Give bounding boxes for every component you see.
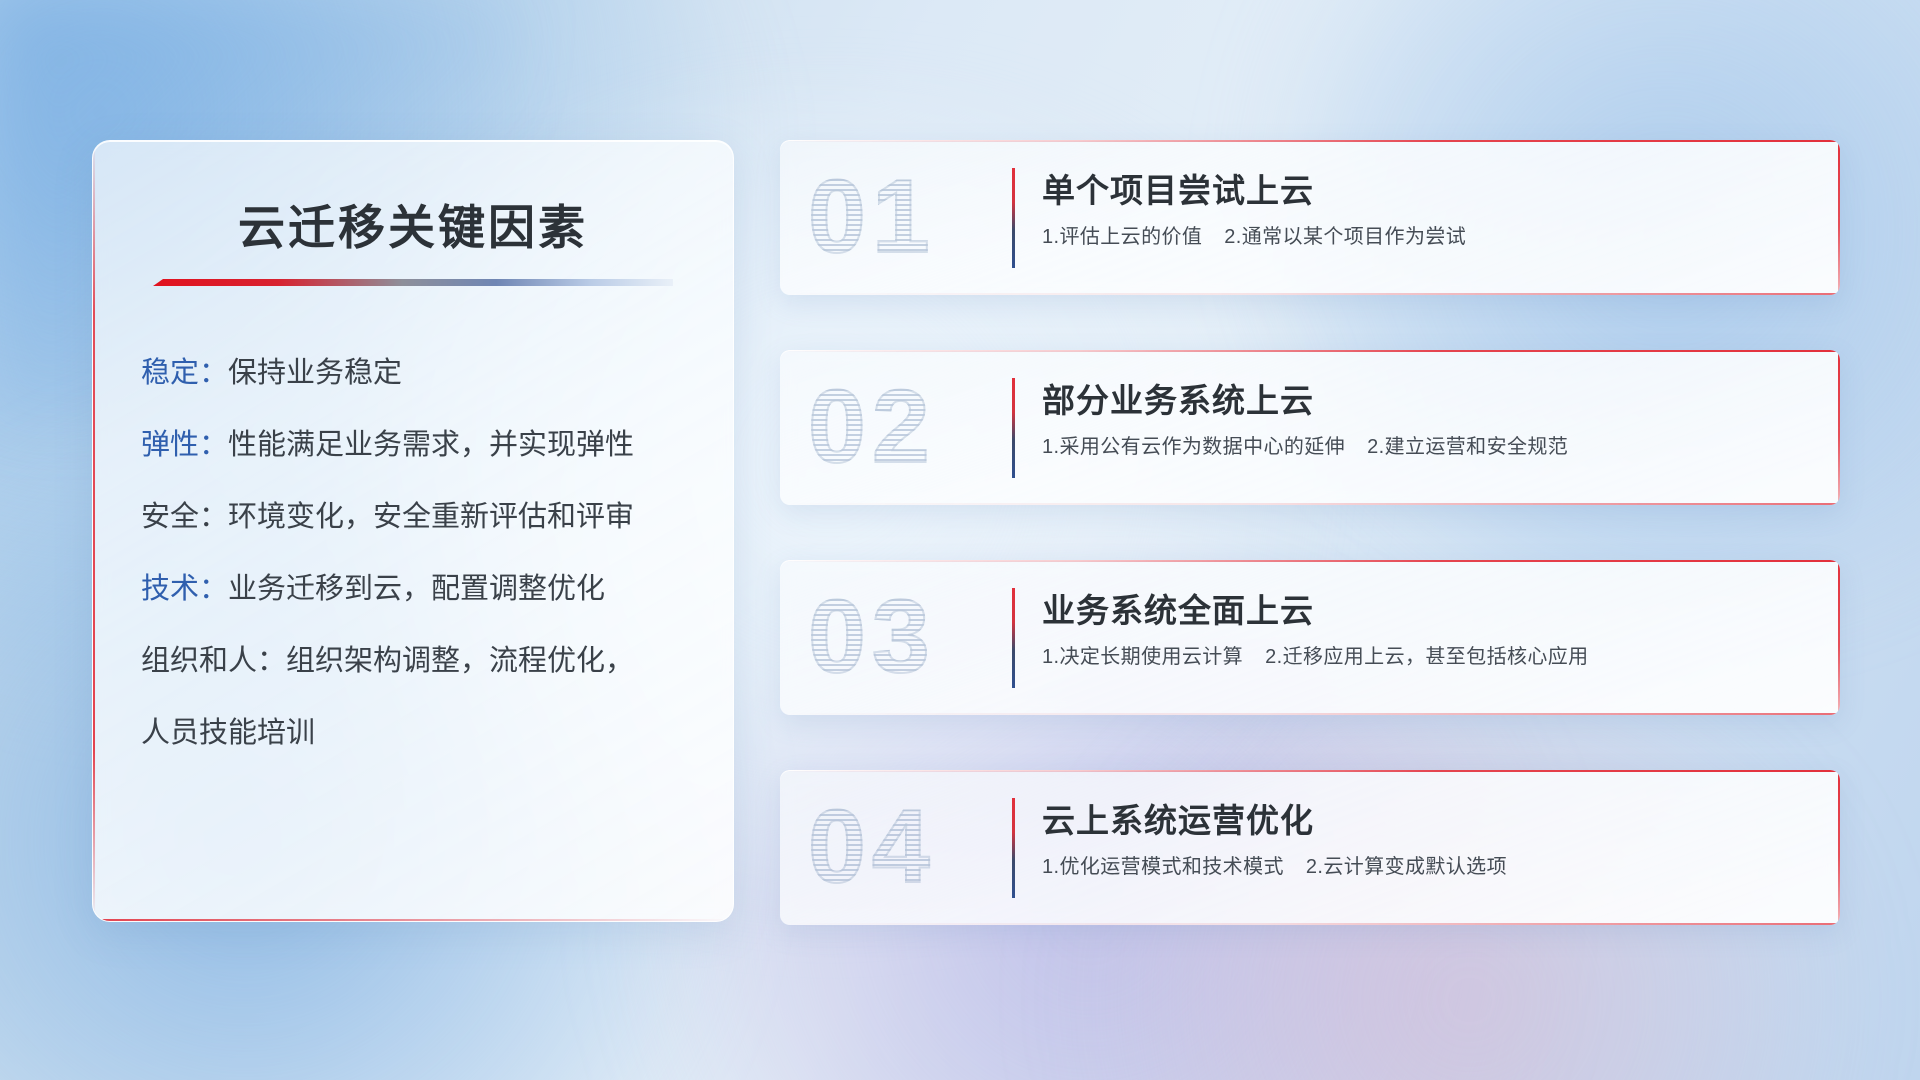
stage-point-1: 1.优化运营模式和技术模式 [1042,856,1284,878]
list-item: 人员技能培训 [141,719,697,748]
stage-description: 1.评估上云的价值2.通常以某个项目作为尝试 [1042,220,1466,249]
stage-divider-bar [1012,168,1015,268]
stage-point-1: 1.决定长期使用云计算 [1042,646,1243,668]
stage-title: 云上系统运营优化 [1042,794,1314,842]
stage-title: 部分业务系统上云 [1042,374,1314,422]
stage-card-01[interactable]: 01 单个项目尝试上云 1.评估上云的价值2.通常以某个项目作为尝试 [780,140,1840,295]
stage-point-2: 2.迁移应用上云，甚至包括核心应用 [1265,646,1588,668]
card-top-accent [780,560,1840,562]
card-top-accent [780,140,1840,142]
list-item-label: 弹性： [141,429,228,461]
stage-number: 01 [808,154,1008,280]
stage-title: 业务系统全面上云 [1042,584,1314,632]
card-right-accent [1838,350,1840,505]
card-right-accent [1838,560,1840,715]
card-top-accent [780,350,1840,352]
card-bottom-accent [780,713,1840,715]
list-item-text: 环境变化，安全重新评估和评审 [228,501,634,533]
stage-point-1: 1.评估上云的价值 [1042,226,1202,248]
stage-divider-bar [1012,798,1015,898]
card-bottom-accent [780,293,1840,295]
card-right-accent [1838,140,1840,295]
list-item: 安全：环境变化，安全重新评估和评审 [141,503,697,532]
stage-divider-bar [1012,588,1015,688]
list-item-label: 组织和人： [141,645,286,677]
stage-description: 1.优化运营模式和技术模式2.云计算变成默认选项 [1042,850,1507,879]
list-item-label: 稳定： [141,357,228,389]
list-item-text: 保持业务稳定 [228,357,402,389]
stage-point-1: 1.采用公有云作为数据中心的延伸 [1042,436,1345,458]
card-bottom-accent [780,503,1840,505]
list-item: 组织和人：组织架构调整，流程优化， [141,647,697,676]
card-bottom-accent [780,923,1840,925]
panel-bottom-accent-border [93,919,733,921]
panel-title: 云迁移关键因素 [93,189,733,258]
list-item-text: 性能满足业务需求，并实现弹性 [228,429,634,461]
key-factors-list: 稳定：保持业务稳定 弹性：性能满足业务需求，并实现弹性 安全：环境变化，安全重新… [141,359,697,791]
list-item-label: 安全： [141,501,228,533]
panel-left-accent-border [93,141,95,921]
stage-divider-bar [1012,378,1015,478]
stage-card-03[interactable]: 03 业务系统全面上云 1.决定长期使用云计算2.迁移应用上云，甚至包括核心应用 [780,560,1840,715]
stage-point-2: 2.云计算变成默认选项 [1306,856,1507,878]
stage-card-04[interactable]: 04 云上系统运营优化 1.优化运营模式和技术模式2.云计算变成默认选项 [780,770,1840,925]
stage-number: 03 [808,574,1008,700]
stage-title: 单个项目尝试上云 [1042,164,1314,212]
list-item: 技术：业务迁移到云，配置调整优化 [141,575,697,604]
list-item-label: 技术： [141,573,228,605]
stage-point-2: 2.建立运营和安全规范 [1367,436,1568,458]
stage-number: 02 [808,364,1008,490]
list-item-text: 人员技能培训 [141,717,315,749]
panel-title-underline [153,279,673,286]
key-factors-panel: 云迁移关键因素 稳定：保持业务稳定 弹性：性能满足业务需求，并实现弹性 安全：环… [92,140,734,922]
card-right-accent [1838,770,1840,925]
stage-description: 1.决定长期使用云计算2.迁移应用上云，甚至包括核心应用 [1042,640,1589,669]
stage-number: 04 [808,784,1008,910]
list-item-text: 业务迁移到云，配置调整优化 [228,573,605,605]
card-top-accent [780,770,1840,772]
list-item: 稳定：保持业务稳定 [141,359,697,388]
stage-card-02[interactable]: 02 部分业务系统上云 1.采用公有云作为数据中心的延伸2.建立运营和安全规范 [780,350,1840,505]
list-item: 弹性：性能满足业务需求，并实现弹性 [141,431,697,460]
stage-point-2: 2.通常以某个项目作为尝试 [1224,226,1466,248]
stage-description: 1.采用公有云作为数据中心的延伸2.建立运营和安全规范 [1042,430,1568,459]
list-item-text: 组织架构调整，流程优化， [286,645,634,677]
